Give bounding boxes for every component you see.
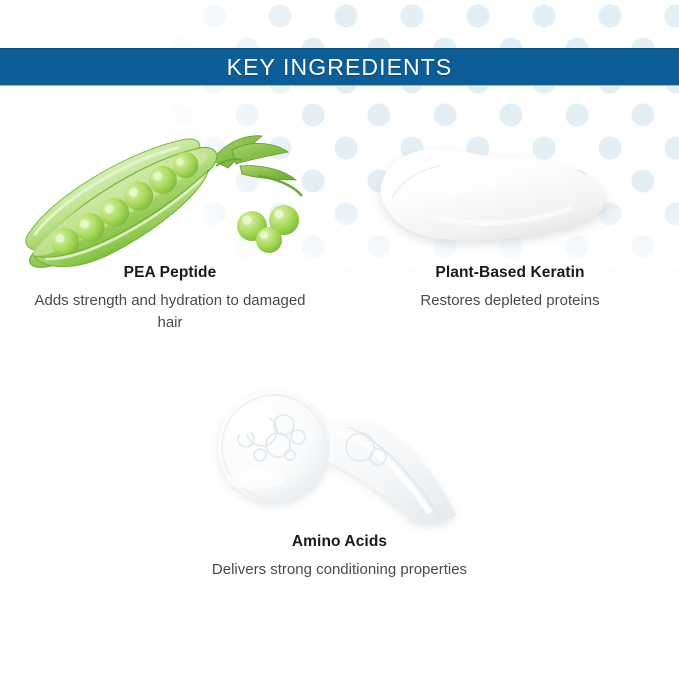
pea-pods-image [0,120,340,260]
key-ingredients-banner: KEY INGREDIENTS [0,48,679,86]
ingredients-row-bottom: Amino Acids Delivers strong conditioning… [0,375,679,581]
loose-peas [237,205,299,253]
ingredient-description: Adds strength and hydration to damaged h… [25,290,315,334]
ingredients-row-top: PEA Peptide Adds strength and hydration … [0,120,679,360]
ingredient-description: Delivers strong conditioning properties [212,559,467,581]
ingredient-card-plant-based-keratin: Plant-Based Keratin Restores depleted pr… [340,120,679,360]
gel-droplet-image [190,375,490,535]
gel-droplet-shape [218,391,456,524]
ingredient-name: PEA Peptide [124,264,217,282]
pea-stem [212,136,302,196]
banner-title: KEY INGREDIENTS [227,54,453,81]
ingredient-name: Plant-Based Keratin [435,264,584,282]
ingredient-card-pea-peptide: PEA Peptide Adds strength and hydration … [0,120,340,360]
key-ingredients-page: KEY INGREDIENTS [0,0,679,679]
cream-swatch-image [340,120,679,260]
ingredient-description: Restores depleted proteins [420,290,599,312]
cream-blob [380,149,605,241]
